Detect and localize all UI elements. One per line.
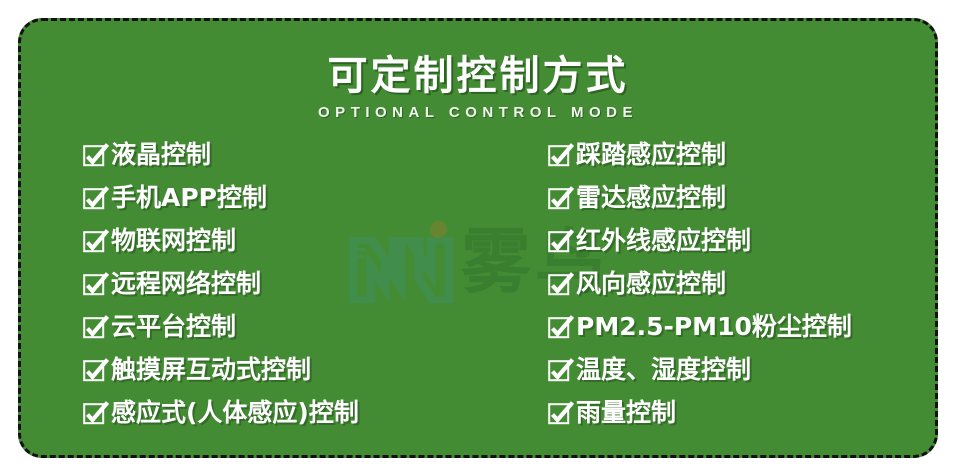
feature-item: 红外线感应控制 [548, 219, 935, 262]
feature-item: 手机APP控制 [83, 176, 470, 219]
feature-column-right: 踩踏感应控制雷达感应控制红外线感应控制风向感应控制PM2.5-PM10粉尘控制温… [470, 133, 935, 453]
feature-item-label: 雷达感应控制 [576, 185, 726, 210]
feature-item-label: 液晶控制 [111, 142, 211, 167]
feature-item-label: 触摸屏互动式控制 [111, 357, 311, 382]
feature-item: 感应式(人体感应)控制 [83, 391, 470, 434]
feature-item-label: 踩踏感应控制 [576, 142, 726, 167]
checkbox-checked-icon [548, 402, 570, 424]
feature-item-label: 风向感应控制 [576, 271, 726, 296]
checkbox-checked-icon [548, 359, 570, 381]
checkbox-checked-icon [83, 230, 105, 252]
feature-item-label: 远程网络控制 [111, 271, 261, 296]
feature-columns: 液晶控制手机APP控制物联网控制远程网络控制云平台控制触摸屏互动式控制感应式(人… [21, 133, 935, 453]
page-title: 可定制控制方式 [21, 55, 935, 97]
checkbox-checked-icon [83, 187, 105, 209]
checkbox-checked-icon [83, 273, 105, 295]
feature-item: 雷达感应控制 [548, 176, 935, 219]
checkbox-checked-icon [548, 230, 570, 252]
checkbox-checked-icon [83, 359, 105, 381]
feature-item: 物联网控制 [83, 219, 470, 262]
feature-column-left: 液晶控制手机APP控制物联网控制远程网络控制云平台控制触摸屏互动式控制感应式(人… [21, 133, 470, 453]
feature-item: 踩踏感应控制 [548, 133, 935, 176]
checkbox-checked-icon [83, 402, 105, 424]
checkbox-checked-icon [548, 187, 570, 209]
feature-item-label: 红外线感应控制 [576, 228, 751, 253]
feature-item: 温度、湿度控制 [548, 348, 935, 391]
checkbox-checked-icon [83, 144, 105, 166]
poster-root: 雾鸟 可定制控制方式 OPTIONAL CONTROL MODE 液晶控制手机A… [0, 0, 956, 476]
feature-item: PM2.5-PM10粉尘控制 [548, 305, 935, 348]
feature-item-label: 温度、湿度控制 [576, 357, 751, 382]
feature-item-label: 手机APP控制 [111, 185, 267, 210]
feature-item: 雨量控制 [548, 391, 935, 434]
feature-item: 远程网络控制 [83, 262, 470, 305]
feature-item-label: 物联网控制 [111, 228, 236, 253]
feature-item-label: 感应式(人体感应)控制 [111, 400, 359, 425]
feature-item-label: PM2.5-PM10粉尘控制 [576, 314, 852, 339]
checkbox-checked-icon [548, 316, 570, 338]
feature-item-label: 雨量控制 [576, 400, 676, 425]
green-dashed-panel: 雾鸟 可定制控制方式 OPTIONAL CONTROL MODE 液晶控制手机A… [18, 18, 938, 458]
heading-block: 可定制控制方式 OPTIONAL CONTROL MODE [21, 55, 935, 121]
checkbox-checked-icon [548, 144, 570, 166]
feature-item: 云平台控制 [83, 305, 470, 348]
page-subtitle: OPTIONAL CONTROL MODE [21, 104, 935, 121]
feature-item: 触摸屏互动式控制 [83, 348, 470, 391]
feature-item-label: 云平台控制 [111, 314, 236, 339]
checkbox-checked-icon [83, 316, 105, 338]
checkbox-checked-icon [548, 273, 570, 295]
feature-item: 液晶控制 [83, 133, 470, 176]
feature-item: 风向感应控制 [548, 262, 935, 305]
